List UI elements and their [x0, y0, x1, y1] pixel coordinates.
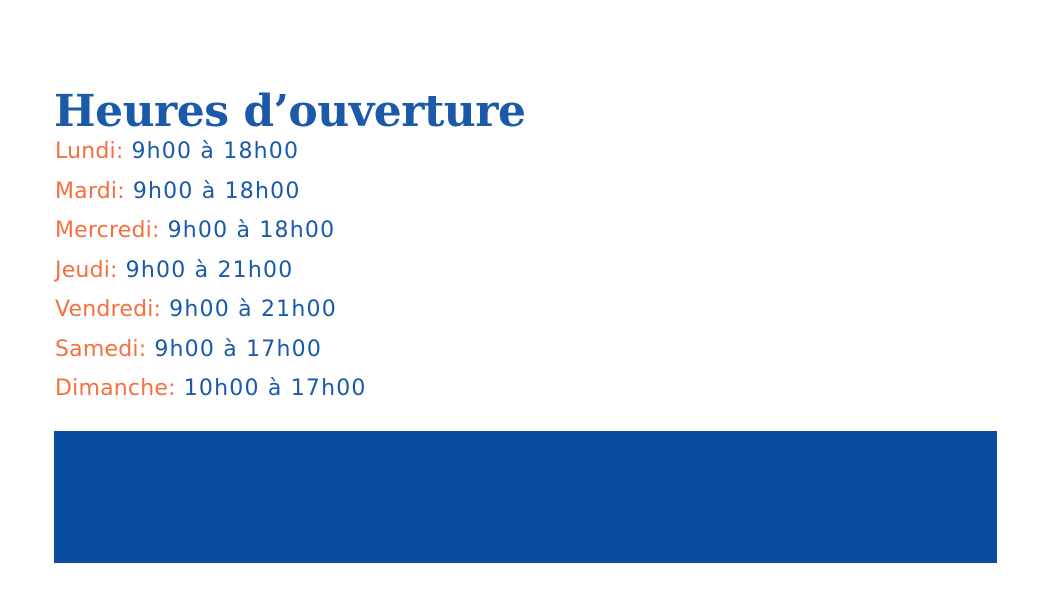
time-value: 9h00 à 18h00 — [133, 179, 301, 204]
list-item: Lundi:9h00 à 18h00 — [55, 132, 655, 172]
list-item: Mercredi:9h00 à 18h00 — [55, 211, 655, 251]
day-label: Dimanche: — [55, 376, 176, 401]
time-value: 9h00 à 21h00 — [126, 258, 294, 283]
page-title: Heures d’ouverture — [54, 86, 525, 138]
content-placeholder-block — [54, 431, 997, 563]
day-label: Vendredi: — [55, 297, 161, 322]
time-value: 9h00 à 18h00 — [131, 139, 299, 164]
time-value: 9h00 à 18h00 — [168, 218, 336, 243]
time-value: 9h00 à 21h00 — [169, 297, 337, 322]
day-label: Lundi: — [55, 139, 123, 164]
day-label: Samedi: — [55, 337, 146, 362]
time-value: 10h00 à 17h00 — [184, 376, 367, 401]
day-label: Mardi: — [55, 179, 125, 204]
list-item: Vendredi:9h00 à 21h00 — [55, 290, 655, 330]
time-value: 9h00 à 17h00 — [154, 337, 322, 362]
list-item: Dimanche:10h00 à 17h00 — [55, 369, 655, 409]
list-item: Jeudi:9h00 à 21h00 — [55, 251, 655, 291]
list-item: Mardi:9h00 à 18h00 — [55, 172, 655, 212]
slide-canvas: Heures d’ouverture Lundi:9h00 à 18h00 Ma… — [0, 0, 1050, 600]
list-item: Samedi:9h00 à 17h00 — [55, 330, 655, 370]
opening-hours-list: Lundi:9h00 à 18h00 Mardi:9h00 à 18h00 Me… — [55, 132, 655, 409]
day-label: Mercredi: — [55, 218, 160, 243]
day-label: Jeudi: — [55, 258, 118, 283]
